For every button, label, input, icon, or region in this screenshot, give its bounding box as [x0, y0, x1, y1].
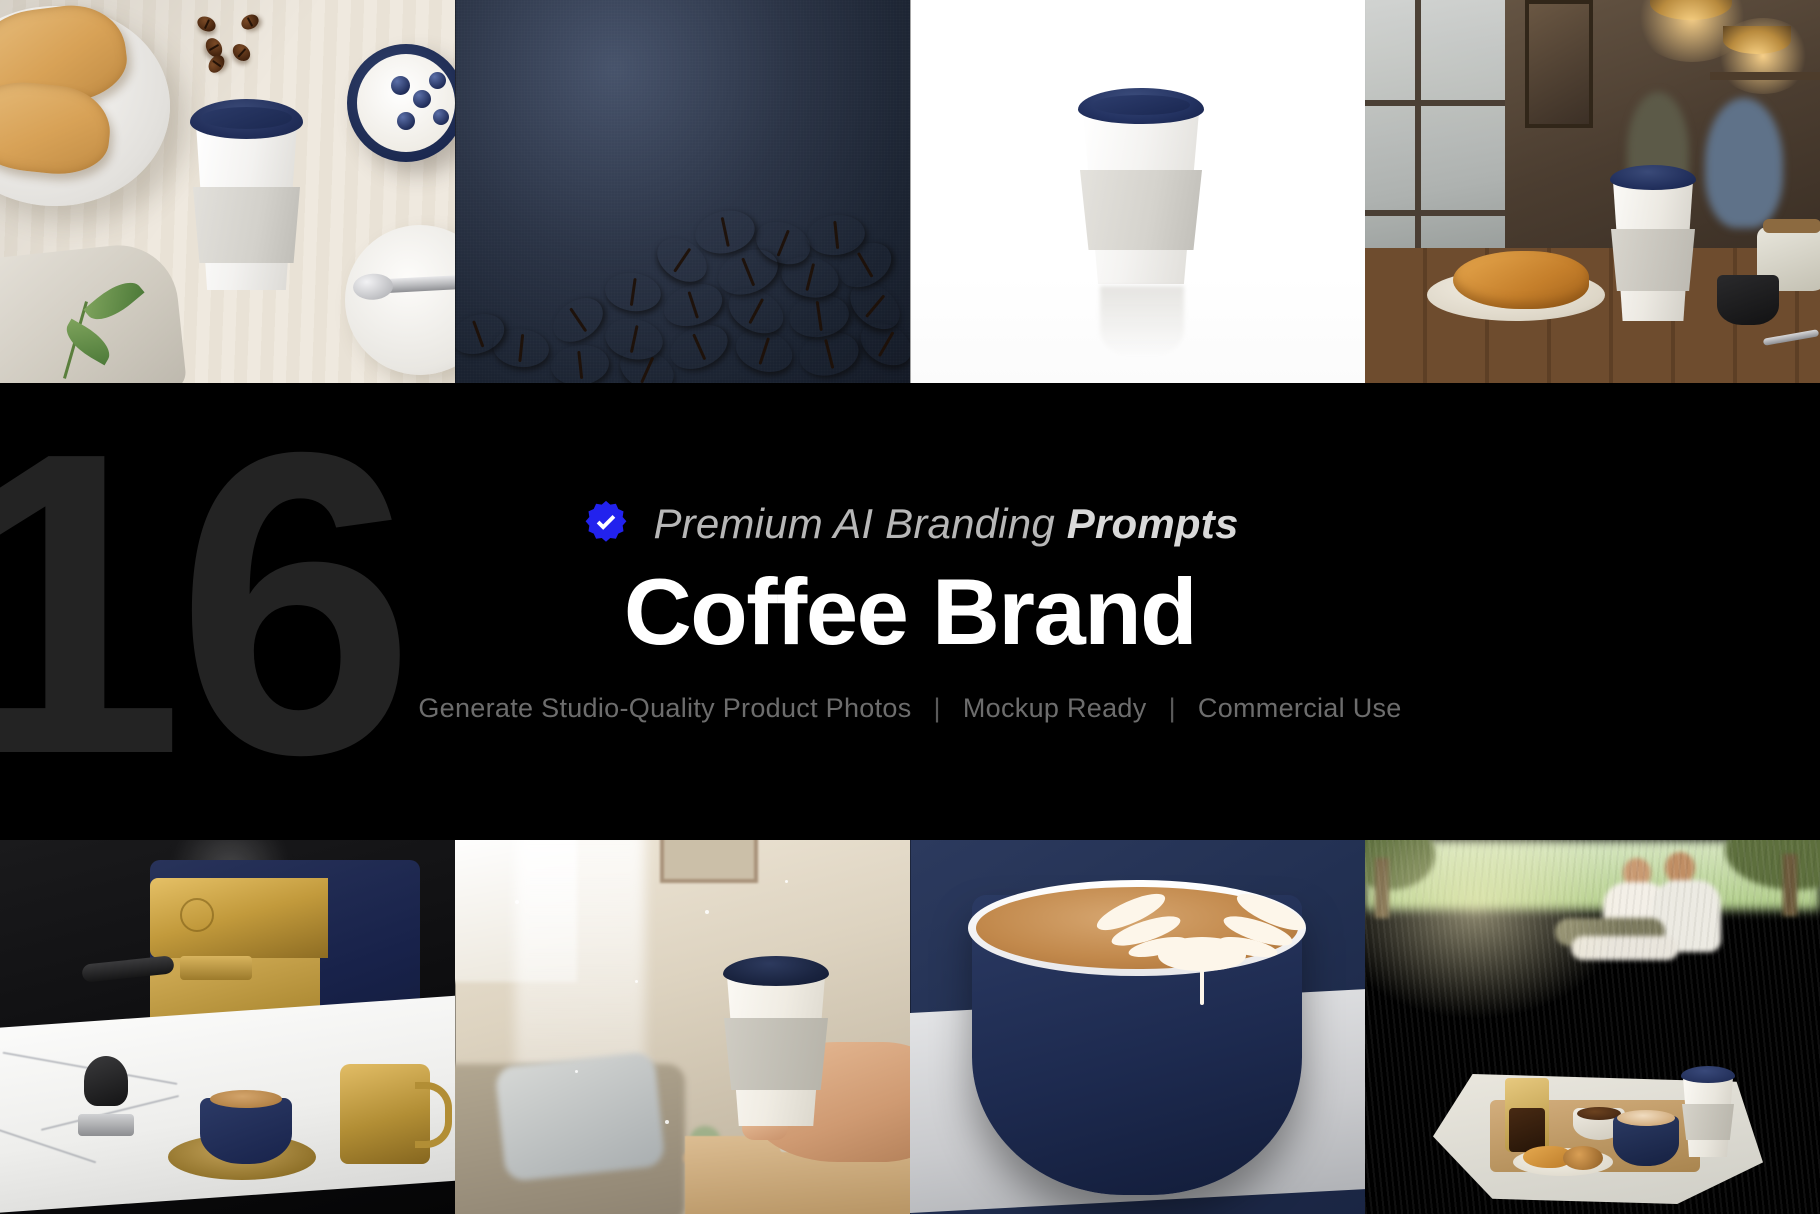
dust-particle	[785, 880, 788, 883]
machine-gold-panel	[150, 878, 328, 958]
dust-particle	[575, 1070, 578, 1073]
takeaway-cup	[723, 956, 829, 1126]
coffee-bean	[239, 12, 261, 33]
milk-pitcher	[340, 1064, 430, 1164]
coffee-bean	[195, 14, 218, 35]
coffee-surface	[976, 887, 1298, 969]
cup-sleeve	[1080, 170, 1202, 250]
bean-pile	[455, 133, 910, 383]
group-head	[180, 956, 252, 980]
eyebrow: Premium AI Branding Prompts	[581, 499, 1238, 549]
gallery-top-row	[0, 0, 1820, 383]
dust-particle	[705, 910, 709, 914]
feature-item: Mockup Ready	[963, 693, 1147, 724]
wall-picture	[660, 840, 758, 883]
cup-reflection	[1100, 286, 1184, 358]
feature-item: Commercial Use	[1198, 693, 1402, 724]
feature-list: Generate Studio-Quality Product Photos |…	[418, 693, 1401, 724]
verified-badge-icon	[581, 499, 631, 549]
cup-sleeve	[1682, 1104, 1734, 1140]
cup-lid	[723, 956, 829, 986]
takeaway-cup	[190, 99, 303, 295]
coffee-bean	[658, 277, 727, 334]
coffee-bean	[603, 269, 664, 314]
feature-separator: |	[912, 693, 963, 724]
takeaway-cup	[1681, 1066, 1735, 1158]
feature-separator: |	[1147, 693, 1198, 724]
blurred-person	[1705, 98, 1783, 228]
coffee-bean	[229, 41, 253, 65]
latte-art-stem	[1200, 949, 1204, 1005]
coffee-bean	[205, 52, 227, 76]
coffee-bean	[663, 317, 734, 378]
jar-lid	[1763, 219, 1820, 233]
poster-canvas: 16 Premium AI Branding Prompts Coffee Br…	[0, 0, 1820, 1214]
pendant-lamp	[1723, 26, 1791, 54]
blueberry	[433, 109, 449, 125]
gallery-image-hand-holding-cup[interactable]	[455, 840, 910, 1214]
cup-lid	[1610, 165, 1696, 190]
cup-lid	[1078, 88, 1204, 124]
eyebrow-text: Premium AI Branding Prompts	[653, 500, 1238, 548]
cup-lid	[1681, 1066, 1735, 1083]
dust-particle	[515, 900, 519, 904]
crema	[210, 1090, 282, 1108]
tamper-base	[78, 1114, 134, 1136]
latte-surface	[1617, 1110, 1675, 1126]
tamper-knob	[84, 1056, 128, 1106]
cup-sleeve	[193, 187, 300, 263]
gallery-image-studio-cup-white[interactable]	[910, 0, 1365, 383]
coffee-bean	[853, 314, 910, 374]
gallery-image-roasted-coffee-beans[interactable]	[455, 0, 910, 383]
saucer	[345, 225, 455, 375]
gallery-image-latte-art-navy-cup[interactable]	[910, 840, 1365, 1214]
shelf	[1710, 72, 1820, 80]
brand-emblem-icon	[180, 898, 214, 932]
blueberry	[391, 76, 410, 95]
cup-lid	[190, 99, 303, 139]
page-title: Coffee Brand	[624, 565, 1196, 659]
feature-item: Generate Studio-Quality Product Photos	[418, 693, 911, 724]
gallery-image-gold-espresso-machine[interactable]	[0, 840, 455, 1214]
wall-picture	[1525, 0, 1593, 128]
coffee-bean	[545, 289, 611, 351]
french-press-glass	[1509, 1108, 1545, 1152]
yogurt	[357, 54, 455, 152]
coffee-bean	[549, 342, 611, 383]
sunlight	[1365, 840, 1625, 1020]
gallery-bottom-row	[0, 840, 1820, 1214]
gallery-image-flatlay-breakfast[interactable]	[0, 0, 455, 383]
tamper	[78, 1056, 134, 1136]
yogurt-bowl	[347, 44, 455, 162]
pastry	[1563, 1146, 1603, 1170]
blueberry	[429, 72, 446, 89]
dust-particle	[665, 1120, 669, 1124]
blueberry	[413, 90, 431, 108]
coffee-bean	[730, 323, 798, 379]
eyebrow-text-regular: Premium AI Branding	[653, 500, 1066, 547]
blanket	[494, 1051, 665, 1182]
dust-particle	[635, 980, 638, 983]
croissant	[1453, 251, 1589, 309]
espresso-cup	[1717, 275, 1779, 325]
takeaway-cup	[1610, 165, 1696, 321]
eyebrow-text-bold: Prompts	[1067, 500, 1239, 547]
cup-sleeve	[1611, 229, 1695, 291]
gallery-image-cafe-table-croissant[interactable]	[1365, 0, 1820, 383]
blueberry	[397, 112, 415, 130]
spoon	[367, 274, 455, 294]
gallery-image-park-picnic-coffee[interactable]	[1365, 840, 1820, 1214]
cup-sleeve	[724, 1018, 828, 1090]
takeaway-cup	[1078, 88, 1204, 288]
hero-band: 16 Premium AI Branding Prompts Coffee Br…	[0, 383, 1820, 840]
